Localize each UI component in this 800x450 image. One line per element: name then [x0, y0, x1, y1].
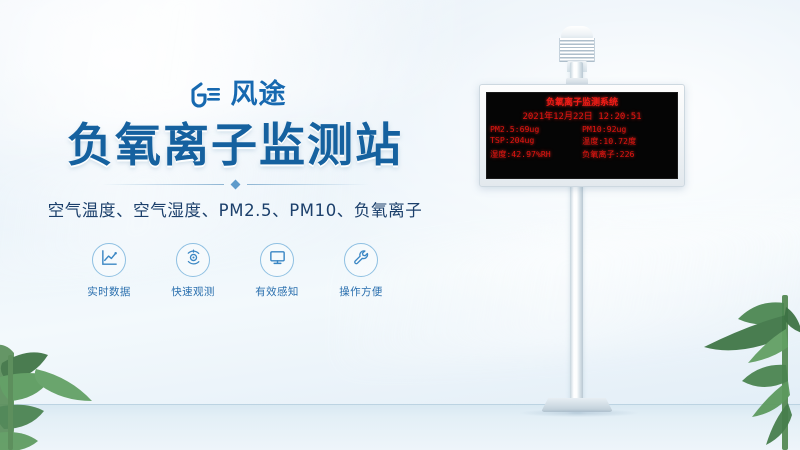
led-readings: PM2.5:69ug PM10:92ug TSP:204ug 温度:10.72度…	[487, 124, 677, 160]
led-datetime: 2021年12月22日 12:20:51	[487, 109, 677, 122]
divider-line-left	[102, 184, 224, 185]
feature-icon-circle	[260, 243, 294, 277]
led-display-panel[interactable]: 负氧离子监测系统 2021年12月22日 12:20:51 PM2.5:69ug…	[479, 84, 685, 187]
banner-stage: 风途 负氧离子监测站 空气温度、空气湿度、PM2.5、PM10、负氧离子	[0, 0, 800, 450]
led-reading-row: TSP:204ug 温度:10.72度	[490, 135, 674, 147]
feature-item-realtime-data[interactable]: 实时数据	[78, 243, 140, 299]
horizon-line	[0, 404, 800, 405]
feature-icon-circle	[176, 243, 210, 277]
led-title: 负氧离子监测系统	[487, 95, 677, 108]
feature-list: 实时数据 快速观测	[0, 243, 470, 299]
feature-label: 操作方便	[330, 284, 392, 299]
sensor-louvers	[559, 38, 595, 62]
led-value-pm10: PM10:92ug	[582, 124, 674, 134]
feature-label: 有效感知	[246, 284, 308, 299]
title-divider	[0, 181, 470, 188]
feature-icon-circle	[92, 243, 126, 277]
line-chart-icon	[100, 248, 119, 272]
led-value-pm25: PM2.5:69ug	[490, 124, 582, 134]
radar-observation-icon	[184, 248, 203, 272]
feature-item-easy-operation[interactable]: 操作方便	[330, 243, 392, 299]
brand-name: 风途	[231, 81, 287, 108]
divider-diamond	[230, 180, 240, 190]
pole-base-flange	[541, 398, 613, 412]
hero-text-panel: 风途 负氧离子监测站 空气温度、空气湿度、PM2.5、PM10、负氧离子	[0, 74, 470, 299]
monitor-display-icon	[268, 248, 287, 272]
led-value-humidity: 湿度:42.97%RH	[490, 148, 582, 160]
led-screen: 负氧离子监测系统 2021年12月22日 12:20:51 PM2.5:69ug…	[486, 92, 678, 179]
led-value-negative-ion: 负氧离子:226	[582, 148, 674, 160]
feature-icon-circle	[344, 243, 378, 277]
feature-label: 快速观测	[162, 284, 224, 299]
led-value-tsp: TSP:204ug	[490, 135, 582, 147]
feature-label: 实时数据	[78, 284, 140, 299]
ground-horizon	[0, 404, 800, 450]
brand-logo: 风途	[0, 74, 470, 114]
divider-line-right	[247, 184, 369, 185]
fengtu-wing-logo-icon	[184, 79, 222, 109]
feature-item-effective-sensing[interactable]: 有效感知	[246, 243, 308, 299]
led-value-temperature: 温度:10.72度	[582, 135, 674, 147]
page-title: 负氧离子监测站	[0, 118, 470, 172]
led-reading-row: 湿度:42.97%RH 负氧离子:226	[490, 148, 674, 160]
feature-item-fast-observation[interactable]: 快速观测	[162, 243, 224, 299]
wrench-tool-icon	[352, 248, 371, 272]
page-subtitle: 空气温度、空气湿度、PM2.5、PM10、负氧离子	[0, 197, 470, 221]
led-reading-row: PM2.5:69ug PM10:92ug	[490, 124, 674, 134]
